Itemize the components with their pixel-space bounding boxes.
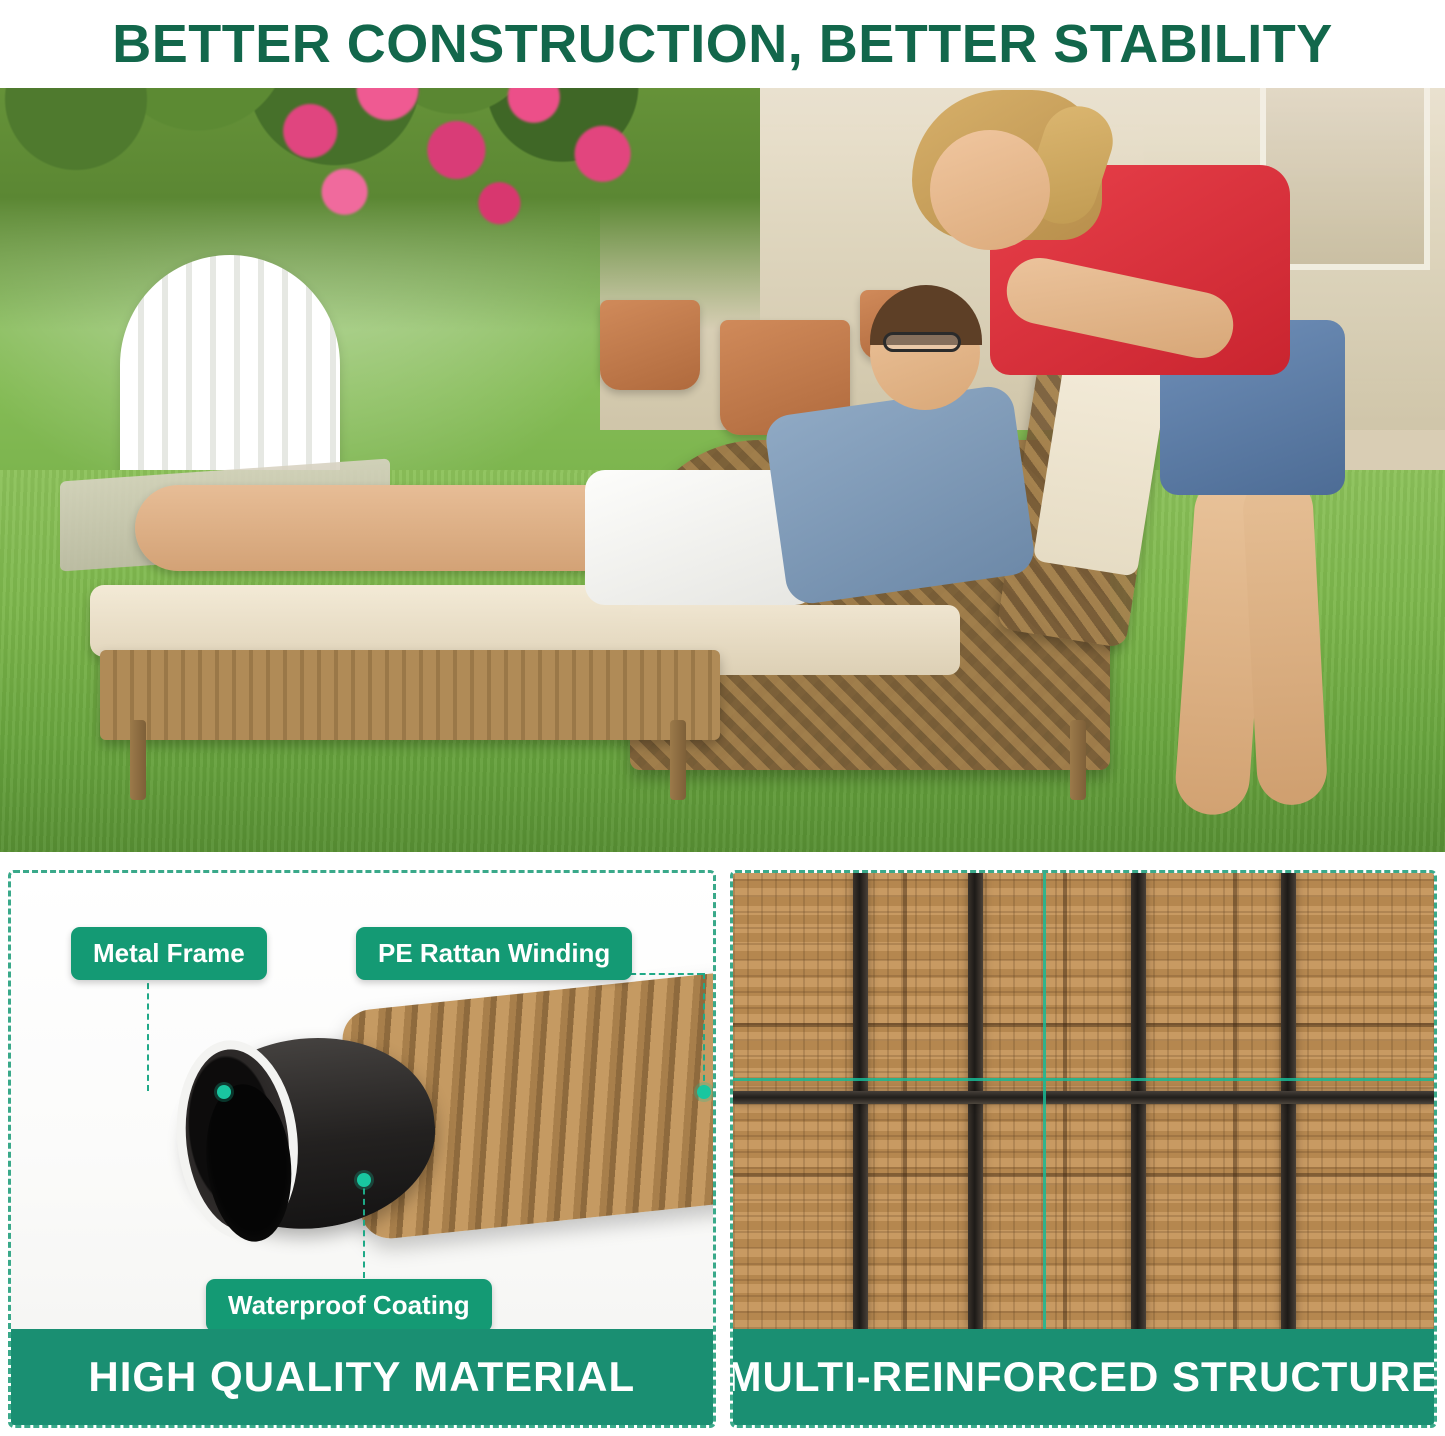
weave-seam-horizontal (733, 1023, 1435, 1027)
rattan-wrapped-tube (166, 972, 716, 1259)
panel-multi-reinforced-structure: MULTI-REINFORCED STRUCTURE (730, 870, 1438, 1428)
feature-panels: Metal Frame PE Rattan Winding Waterproof… (0, 860, 1445, 1436)
leader-line-waterproof (363, 1178, 365, 1278)
callout-pe-rattan-winding: PE Rattan Winding (356, 927, 632, 980)
leader-line-metal-frame (147, 973, 149, 1091)
anchor-dot-waterproof (357, 1173, 371, 1187)
reinforcement-crossbar (733, 1091, 1435, 1104)
accent-line (1043, 873, 1046, 1329)
caption-multi-reinforced-structure: MULTI-REINFORCED STRUCTURE (730, 1353, 1438, 1401)
headline-text: BETTER CONSTRUCTION, BETTER STABILITY (112, 13, 1332, 75)
tube-illustration: Metal Frame PE Rattan Winding Waterproof… (11, 873, 713, 1329)
product-infographic: BETTER CONSTRUCTION, BETTER STABILITY (0, 0, 1445, 1436)
leader-line-pe-vertical (703, 973, 705, 1091)
accent-line (733, 1078, 1435, 1081)
woman-leg-right (1241, 473, 1328, 806)
woman-head (930, 130, 1050, 250)
caption-high-quality-material: HIGH QUALITY MATERIAL (88, 1353, 635, 1401)
hero-photo (0, 0, 1445, 852)
caption-bar-right: MULTI-REINFORCED STRUCTURE (733, 1329, 1435, 1425)
headline-bar: BETTER CONSTRUCTION, BETTER STABILITY (0, 0, 1445, 88)
chaise-leg (130, 720, 146, 800)
anchor-dot-pe-rattan (697, 1085, 711, 1099)
callout-waterproof-coating: Waterproof Coating (206, 1279, 492, 1332)
person-man (135, 430, 935, 690)
caption-bar-left: HIGH QUALITY MATERIAL (11, 1329, 713, 1425)
person-woman (930, 95, 1350, 835)
callout-metal-frame: Metal Frame (71, 927, 267, 980)
chaise-leg (670, 720, 686, 800)
panel-high-quality-material: Metal Frame PE Rattan Winding Waterproof… (8, 870, 716, 1428)
weave-seam-horizontal (733, 1173, 1435, 1177)
planter-pot (600, 300, 700, 390)
anchor-dot-metal-frame (217, 1085, 231, 1099)
